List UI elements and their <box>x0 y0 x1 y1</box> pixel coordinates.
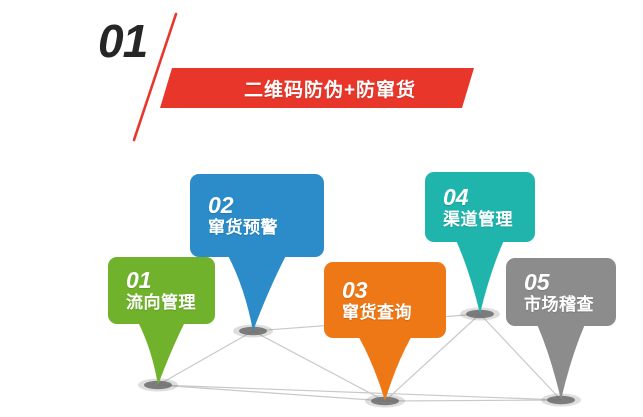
slide-canvas: 01 二维码防伪+防窜货 02窜货预警04渠道管理01流向管理05市场稽查03窜… <box>0 0 643 417</box>
pin-01[interactable] <box>108 257 215 392</box>
pin-card[interactable] <box>425 172 535 242</box>
pin-tail <box>456 241 503 314</box>
pin-card[interactable] <box>324 262 446 338</box>
pin-03[interactable] <box>324 262 446 408</box>
pin-tail <box>537 325 584 400</box>
pin-card[interactable] <box>190 174 324 257</box>
pin-05[interactable] <box>506 258 616 407</box>
pin-tail <box>359 337 411 401</box>
pin-card[interactable] <box>108 257 215 324</box>
pin-card[interactable] <box>506 258 616 326</box>
pin-tail <box>228 256 286 331</box>
pin-tail <box>138 323 184 385</box>
pin-diagram: 02窜货预警04渠道管理01流向管理05市场稽查03窜货查询 <box>0 0 643 417</box>
pin-shapes <box>0 0 643 417</box>
